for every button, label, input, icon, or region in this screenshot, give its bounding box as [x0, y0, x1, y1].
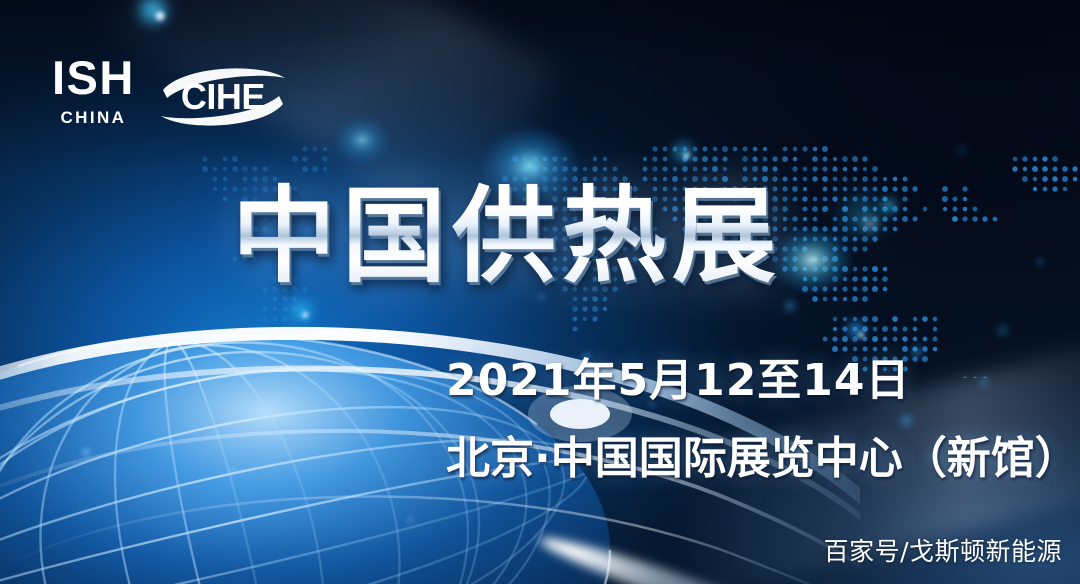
page-title: 中国供热展 — [232, 180, 782, 292]
cihe-logo-text: CIHE — [157, 76, 289, 118]
event-venue: 北京·中国国际展览中心（新馆） — [446, 422, 1079, 486]
ish-logo: ISH CHINA — [52, 55, 135, 128]
ish-logo-text: ISH — [52, 55, 135, 101]
event-banner: ISH CHINA CIHE 中国供热展 2021年5月12至14日 北京·中国… — [0, 0, 1080, 584]
logo-block: ISH CHINA CIHE — [52, 55, 289, 136]
event-date: 2021年5月12至14日 — [446, 344, 911, 408]
watermark: 百家号/戈斯顿新能源 — [824, 532, 1062, 568]
ish-logo-subtitle: CHINA — [61, 108, 127, 128]
cihe-logo: CIHE — [157, 58, 289, 136]
